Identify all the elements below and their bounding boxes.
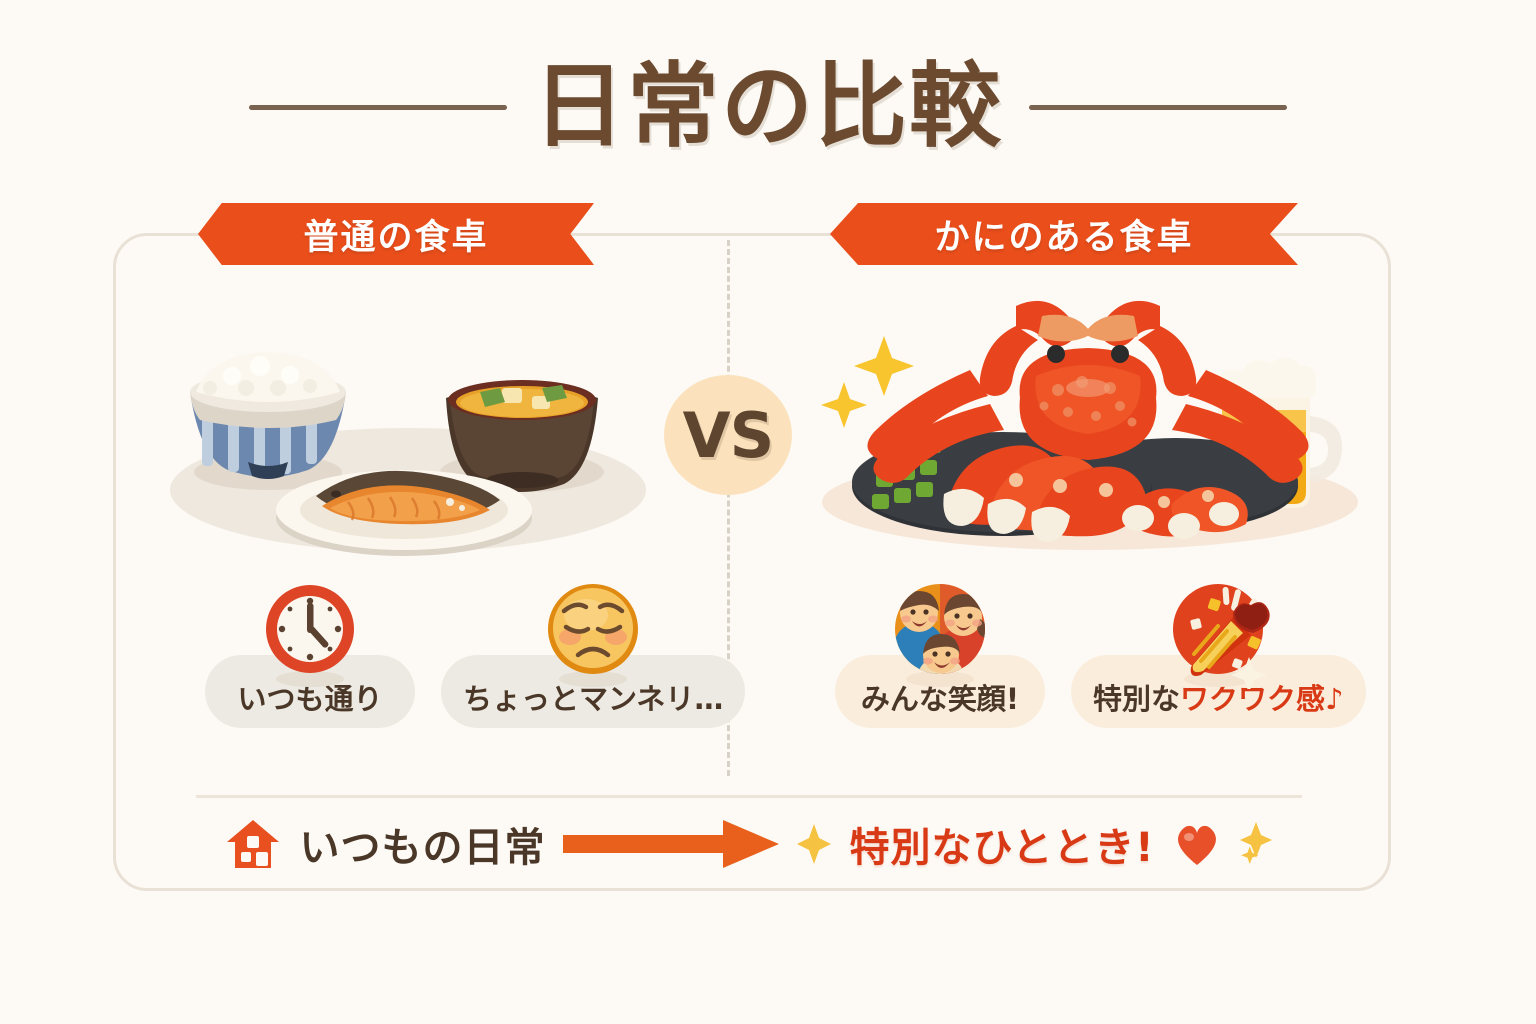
family-icon [883, 575, 997, 689]
infographic-canvas: 日常の比較 普通の食卓 かにのある食卓 [0, 0, 1536, 1024]
footer-divider [196, 795, 1302, 798]
sparkle-icon [1239, 822, 1273, 866]
badge-everyone-smiling: みんな笑顔! [835, 575, 1045, 728]
badge-always-same: いつも通り [205, 575, 415, 728]
vs-badge: VS [664, 375, 792, 495]
page-title: 日常の比較 [533, 61, 1003, 153]
sparkle-icon [854, 336, 914, 396]
house-icon [225, 818, 281, 870]
footer-from-label: いつもの日常 [299, 815, 545, 873]
clock-icon [253, 575, 367, 689]
badge-group-crab: みんな笑顔! [835, 575, 1366, 728]
illustration-ordinary-meal [150, 330, 670, 560]
badge-monotony: ちょっとマンネリ… [441, 575, 745, 728]
heart-icon [1173, 821, 1221, 867]
banner-crab-label: かにのある食卓 [934, 209, 1193, 260]
footer-to-label: 特別なひととき! [849, 815, 1154, 873]
illustration-crab-feast [820, 290, 1365, 555]
set-meal-svg [150, 330, 670, 560]
banner-ordinary: 普通の食卓 [198, 203, 594, 265]
footer-transition: いつもの日常 特別なひととき! [196, 808, 1302, 880]
sad-face-icon [536, 575, 650, 689]
sparkle-icon [821, 382, 867, 428]
title-rule-right [1029, 105, 1287, 110]
banner-crab: かにのある食卓 [830, 203, 1298, 265]
title-rule-left [249, 105, 507, 110]
vs-label: VS [683, 399, 774, 472]
badge-special-excitement: 特別なワクワク感♪ [1071, 575, 1366, 728]
badge-group-ordinary: いつも通り ちょっとマンネリ… [205, 575, 745, 728]
sparkle-icon [797, 822, 831, 866]
banner-ordinary-label: 普通の食卓 [303, 209, 488, 260]
page-title-row: 日常の比較 [0, 52, 1536, 162]
crab-platter-svg [820, 290, 1365, 555]
party-popper-icon [1161, 575, 1275, 689]
right-arrow-icon [563, 818, 779, 870]
